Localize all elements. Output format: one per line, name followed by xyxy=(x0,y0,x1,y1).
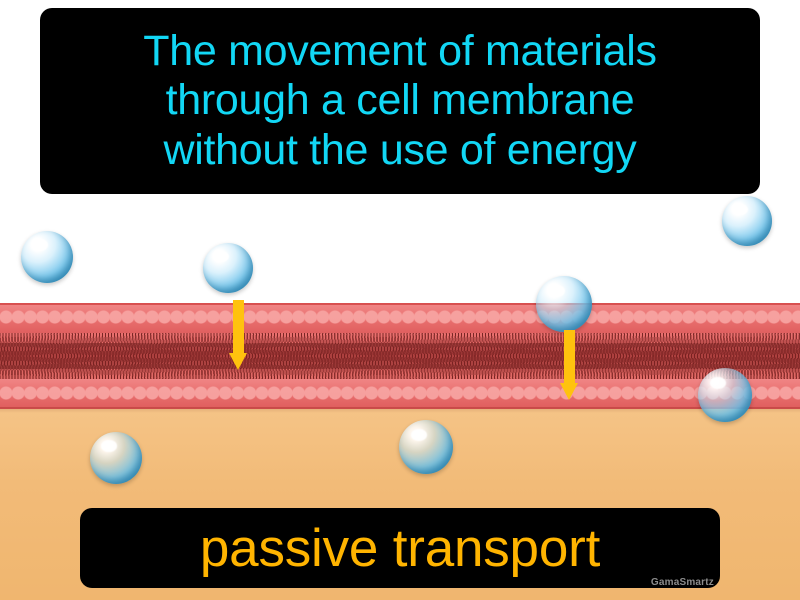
cell-membrane xyxy=(0,303,800,407)
molecule-bubble xyxy=(21,231,73,283)
watermark: GamaSmartz xyxy=(651,577,714,588)
membrane-shadow xyxy=(0,407,800,413)
term-text: passive transport xyxy=(200,522,600,575)
definition-card: The movement of materials through a cell… xyxy=(0,0,800,600)
phospholipid-heads-lower xyxy=(0,380,800,406)
molecule-bubble xyxy=(203,243,253,293)
phospholipid-heads-upper xyxy=(0,304,800,330)
phospholipid-tails-lower xyxy=(0,343,800,383)
molecule-bubble xyxy=(698,368,752,422)
diffusion-arrow-down-icon xyxy=(229,300,247,370)
definition-panel: The movement of materials through a cell… xyxy=(40,8,760,194)
diffusion-arrow-down-icon xyxy=(560,330,578,400)
term-panel: passive transport xyxy=(80,508,720,588)
definition-text: The movement of materials through a cell… xyxy=(143,27,656,174)
molecule-bubble xyxy=(399,420,453,474)
molecule-bubble xyxy=(90,432,142,484)
molecule-bubble xyxy=(536,276,592,332)
molecule-bubble xyxy=(722,196,772,246)
